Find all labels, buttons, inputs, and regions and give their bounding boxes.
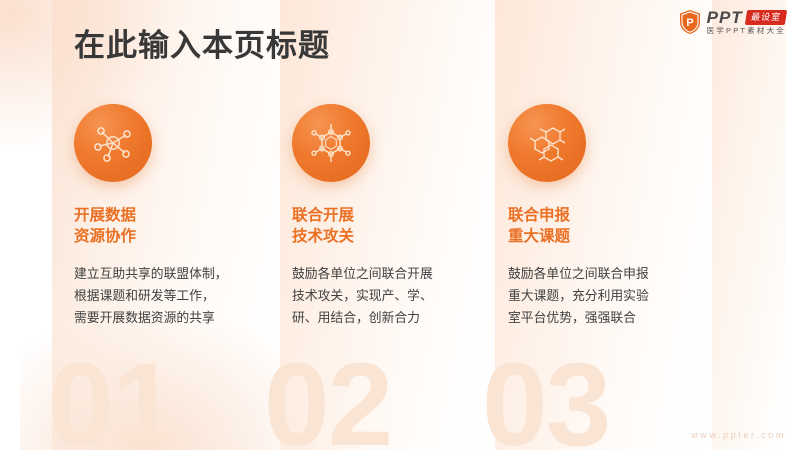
logo-badge: 最设室 xyxy=(744,10,786,25)
fused-ring-molecule-icon xyxy=(508,104,586,182)
page-title: 在此输入本页标题 xyxy=(74,20,330,65)
logo-top-row: PPT 最设室 xyxy=(707,9,786,26)
brand-logo[interactable]: P PPT 最设室 医学PPT素材大全 xyxy=(678,9,786,35)
watermark-number-02: 02 xyxy=(264,346,391,450)
bottom-glow-decoration xyxy=(20,310,340,450)
watermark-number-01: 01 xyxy=(48,346,175,450)
network-nodes-icon xyxy=(74,104,152,182)
benzene-ring-molecule-icon xyxy=(292,104,370,182)
feature-card-1-body: 建立互助共享的联盟体制， 根据课题和研发等工作， 需要开展数据资源的共享 xyxy=(74,263,264,329)
svg-text:P: P xyxy=(686,17,693,29)
footer-website-url: www.ppter.com xyxy=(691,430,786,440)
feature-card-1-heading: 开展数据 资源协作 xyxy=(74,205,264,248)
feature-card-3-body: 鼓励各单位之间联合申报 重大课题，充分利用实验 室平台优势，强强联合 xyxy=(508,263,698,329)
logo-text-block: PPT 最设室 医学PPT素材大全 xyxy=(707,9,786,35)
feature-card-3-heading: 联合申报 重大课题 xyxy=(508,205,698,248)
feature-card-1[interactable]: 开展数据 资源协作 建立互助共享的联盟体制， 根据课题和研发等工作， 需要开展数… xyxy=(74,104,264,329)
feature-card-3[interactable]: 联合申报 重大课题 鼓励各单位之间联合申报 重大课题，充分利用实验 室平台优势，… xyxy=(508,104,698,329)
feature-card-2[interactable]: 联合开展 技术攻关 鼓励各单位之间联合开展 技术攻关，实现产、学、 研、用结合，… xyxy=(292,104,482,329)
background-panel-4 xyxy=(712,0,786,450)
logo-tagline: 医学PPT素材大全 xyxy=(707,27,786,35)
logo-brand-text: PPT xyxy=(707,9,743,26)
feature-card-2-body: 鼓励各单位之间联合开展 技术攻关，实现产、学、 研、用结合，创新合力 xyxy=(292,263,482,329)
slide-canvas: 01 02 03 在此输入本页标题 P PPT 最设室 医学PPT素材大全 xyxy=(0,0,800,450)
feature-card-2-heading: 联合开展 技术攻关 xyxy=(292,205,482,248)
watermark-number-03: 03 xyxy=(482,346,609,450)
shield-p-icon: P xyxy=(678,9,702,35)
